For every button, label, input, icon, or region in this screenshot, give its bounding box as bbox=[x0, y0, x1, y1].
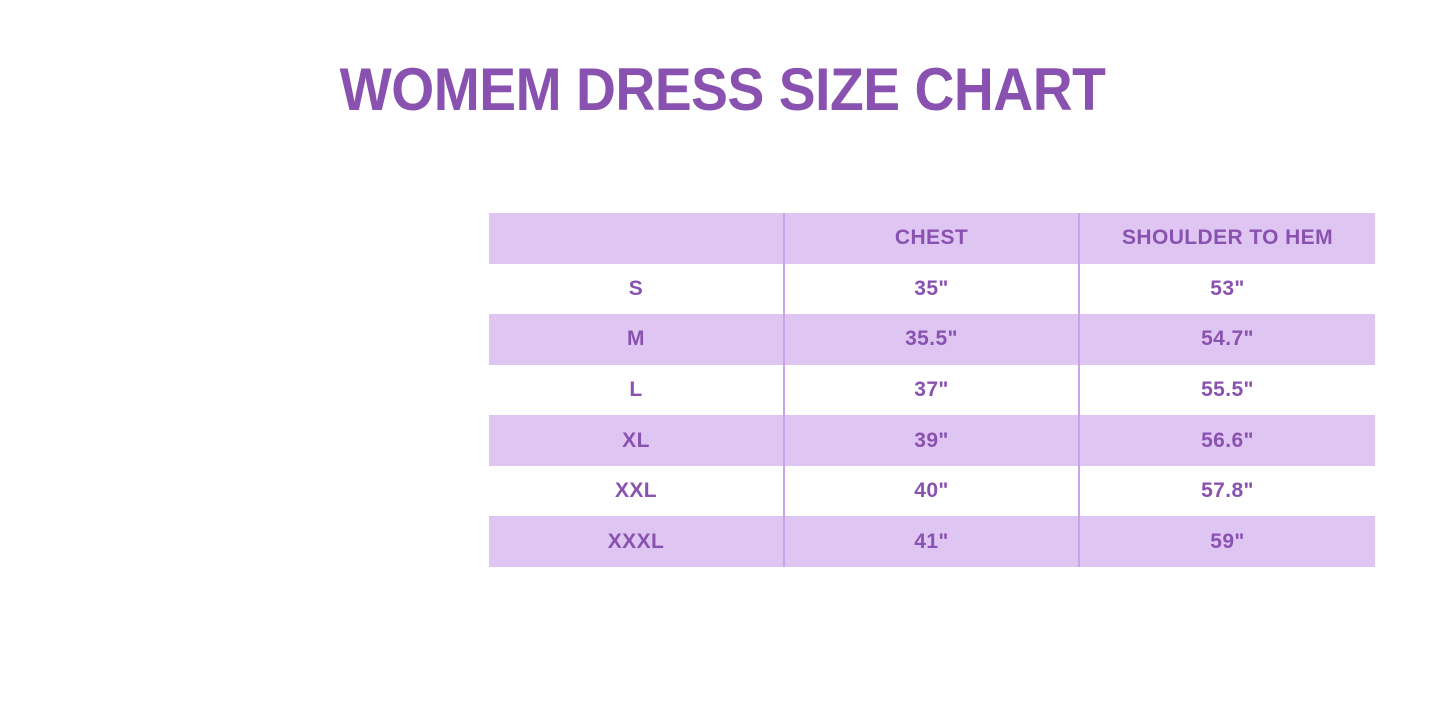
size-chart-table: CHEST SHOULDER TO HEM S 35" 53" M 35.5" … bbox=[489, 213, 1375, 567]
cell-chest: 39" bbox=[784, 415, 1079, 466]
column-header-shoulder-to-hem: SHOULDER TO HEM bbox=[1079, 213, 1375, 264]
table-row: S 35" 53" bbox=[489, 264, 1375, 315]
table-row: M 35.5" 54.7" bbox=[489, 314, 1375, 365]
cell-size: XL bbox=[489, 415, 784, 466]
cell-chest: 35" bbox=[784, 264, 1079, 315]
table-row: XL 39" 56.6" bbox=[489, 415, 1375, 466]
column-header-chest: CHEST bbox=[784, 213, 1079, 264]
cell-chest: 35.5" bbox=[784, 314, 1079, 365]
column-header-size bbox=[489, 213, 784, 264]
table-header: CHEST SHOULDER TO HEM bbox=[489, 213, 1375, 264]
cell-chest: 41" bbox=[784, 516, 1079, 567]
page-title: WOMEM DRESS SIZE CHART bbox=[58, 54, 1387, 126]
cell-size: XXXL bbox=[489, 516, 784, 567]
cell-shoulder-to-hem: 56.6" bbox=[1079, 415, 1375, 466]
size-chart-page: WOMEM DRESS SIZE CHART CHEST SHOULDER TO… bbox=[0, 0, 1445, 723]
cell-chest: 40" bbox=[784, 466, 1079, 517]
table-row: L 37" 55.5" bbox=[489, 365, 1375, 416]
cell-size: L bbox=[489, 365, 784, 416]
table-header-row: CHEST SHOULDER TO HEM bbox=[489, 213, 1375, 264]
cell-chest: 37" bbox=[784, 365, 1079, 416]
table-row: XXL 40" 57.8" bbox=[489, 466, 1375, 517]
cell-size: S bbox=[489, 264, 784, 315]
table-row: XXXL 41" 59" bbox=[489, 516, 1375, 567]
cell-shoulder-to-hem: 55.5" bbox=[1079, 365, 1375, 416]
cell-shoulder-to-hem: 54.7" bbox=[1079, 314, 1375, 365]
table-body: S 35" 53" M 35.5" 54.7" L 37" 55.5" XL 3… bbox=[489, 264, 1375, 568]
cell-shoulder-to-hem: 59" bbox=[1079, 516, 1375, 567]
cell-shoulder-to-hem: 57.8" bbox=[1079, 466, 1375, 517]
cell-size: M bbox=[489, 314, 784, 365]
cell-size: XXL bbox=[489, 466, 784, 517]
cell-shoulder-to-hem: 53" bbox=[1079, 264, 1375, 315]
